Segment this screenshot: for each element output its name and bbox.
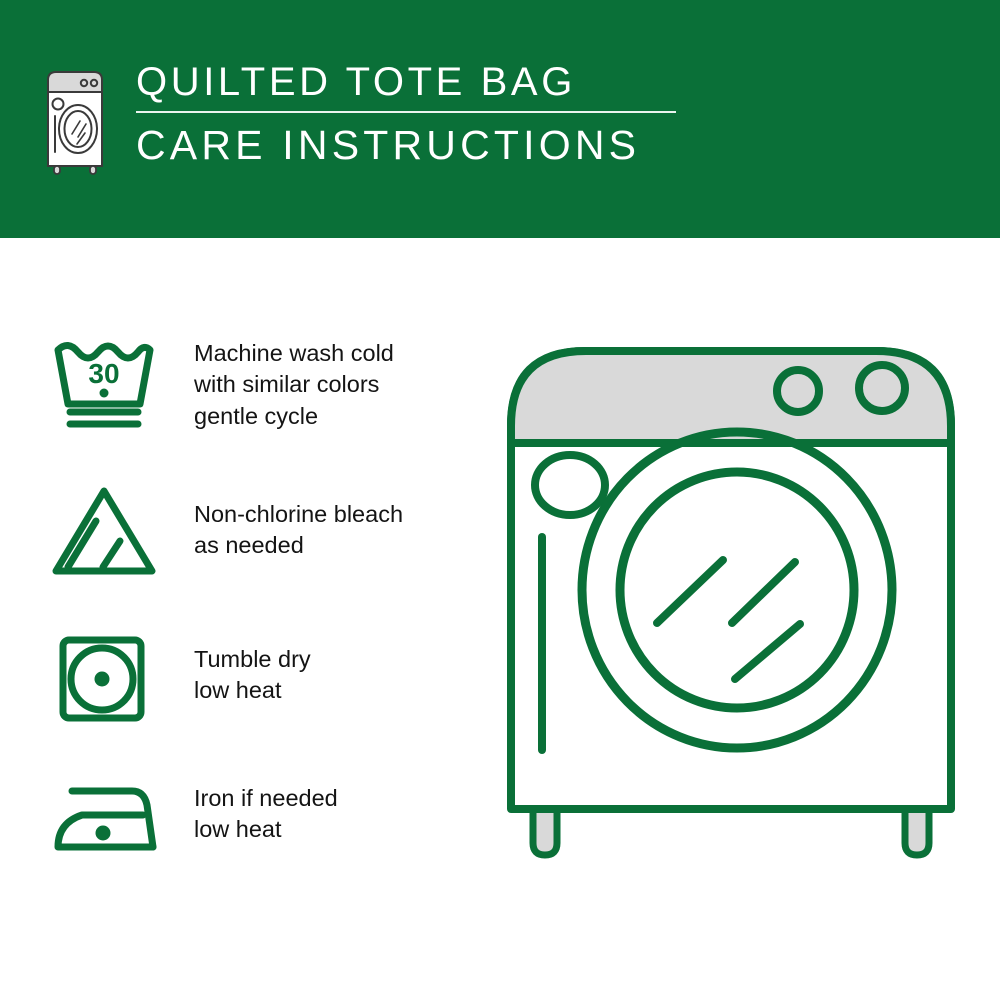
washing-machine-illustration: [485, 325, 985, 945]
header-content: QUILTED TOTE BAG CARE INSTRUCTIONS: [44, 62, 676, 178]
header-banner: QUILTED TOTE BAG CARE INSTRUCTIONS: [0, 0, 1000, 238]
page-title: QUILTED TOTE BAG: [136, 62, 676, 102]
washing-machine-icon: [44, 66, 106, 178]
care-symbol-wash: 30: [48, 336, 166, 440]
wash-tub-icon: 30: [48, 336, 166, 440]
care-label-tumble-dry: Tumble dry low heat: [194, 626, 478, 707]
care-row-tumble-dry: Tumble dry low heat: [48, 626, 478, 771]
care-label-wash: Machine wash cold with similar colors ge…: [194, 336, 478, 432]
care-label-iron: Iron if needed low heat: [194, 771, 478, 846]
care-row-bleach: Non-chlorine bleach as needed: [48, 481, 478, 626]
care-symbol-bleach: [48, 481, 166, 585]
care-label-bleach: Non-chlorine bleach as needed: [194, 481, 478, 562]
page-subtitle: CARE INSTRUCTIONS: [136, 125, 676, 166]
care-symbol-tumble-dry: [48, 626, 166, 730]
wash-temperature-label: 30: [88, 358, 119, 389]
care-row-wash: 30 Machine wash cold with similar colors…: [48, 336, 478, 481]
care-symbol-iron: [48, 771, 166, 875]
care-instructions-page: QUILTED TOTE BAG CARE INSTRUCTIONS 30: [0, 0, 1000, 1000]
care-row-iron: Iron if needed low heat: [48, 771, 478, 916]
tumble-dry-icon: [48, 626, 166, 730]
care-instruction-list: 30 Machine wash cold with similar colors…: [48, 336, 478, 916]
iron-icon: [48, 771, 166, 875]
bleach-triangle-icon: [48, 481, 166, 585]
header-titles: QUILTED TOTE BAG CARE INSTRUCTIONS: [136, 62, 676, 166]
title-divider: [136, 111, 676, 113]
